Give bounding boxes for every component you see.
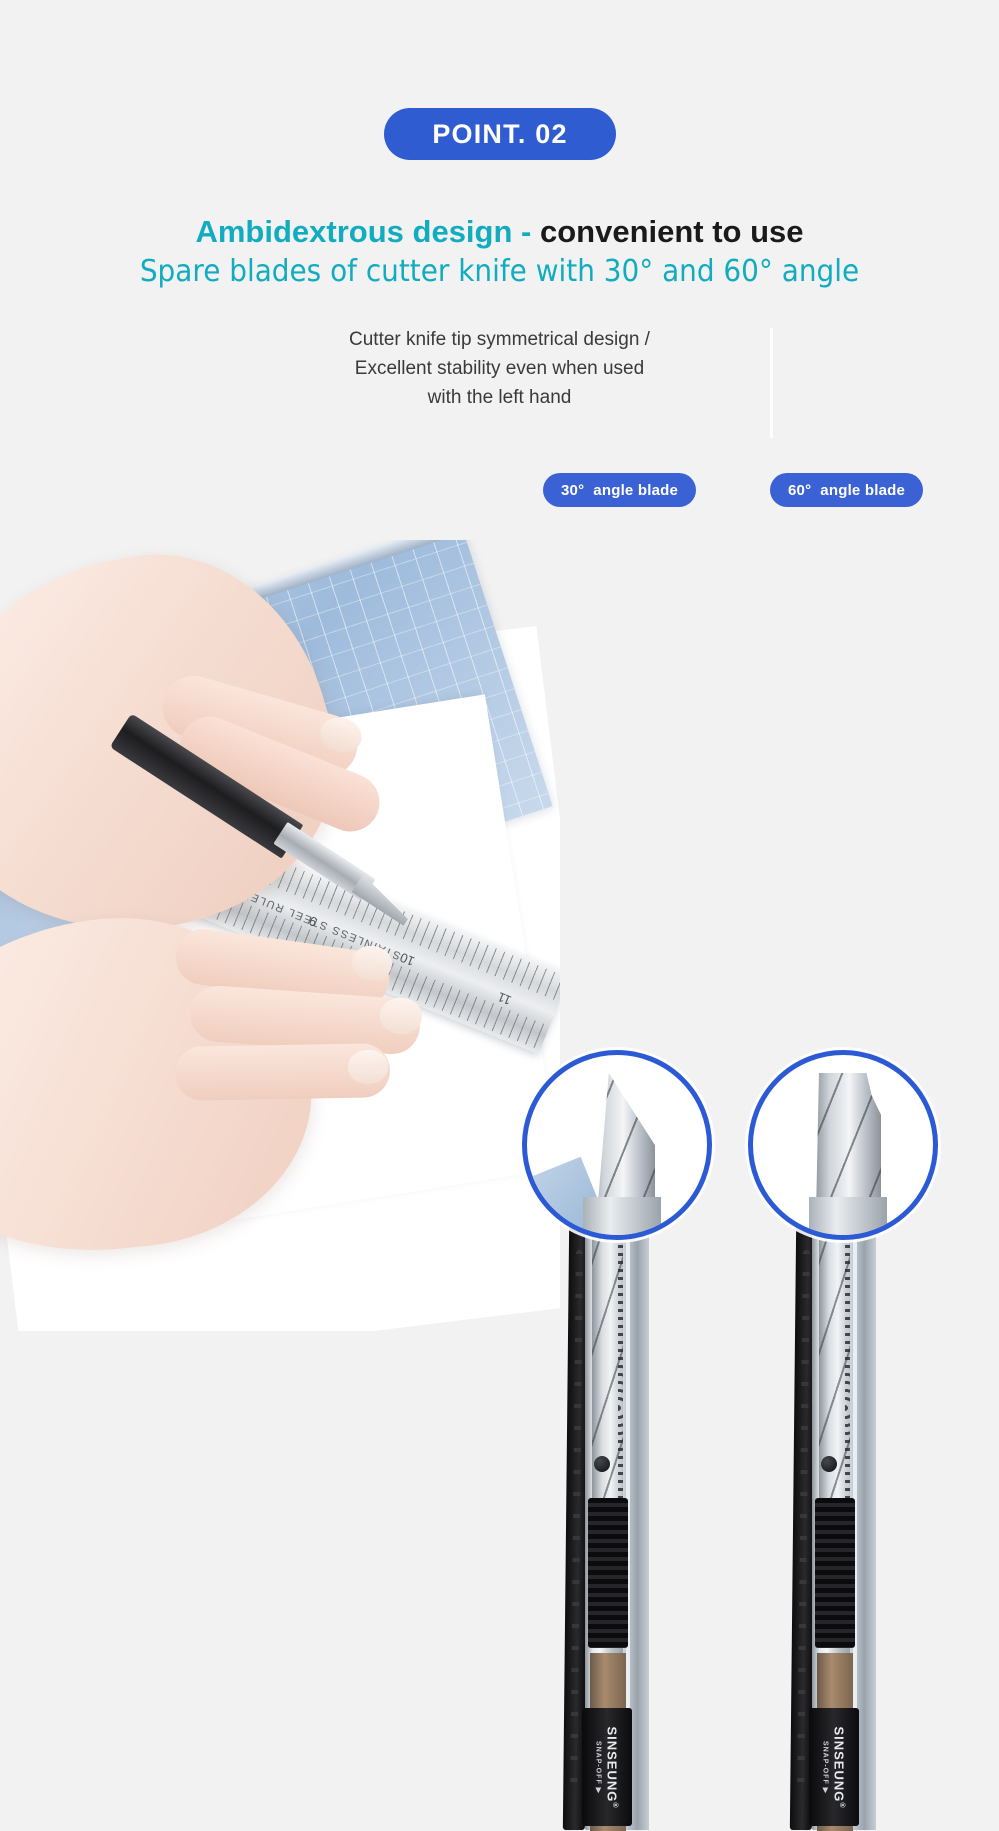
pill-60-degree: 60°	[788, 482, 811, 499]
ruler-number: 9	[307, 914, 319, 931]
registered-mark: ®	[838, 1802, 845, 1808]
brand-name: SINSEUNG®	[605, 1726, 620, 1808]
snap-off-text: SNAP-OFF ▶	[822, 1726, 830, 1808]
knife-slider	[588, 1498, 628, 1648]
headline-teal-text: Ambidextrous design -	[195, 214, 539, 249]
subcopy-line-1: Cutter knife tip symmetrical design /	[0, 325, 999, 354]
knife-brand-label: SINSEUNG® SNAP-OFF ▶	[809, 1708, 859, 1826]
headline-block: Ambidextrous design - convenient to use …	[0, 212, 999, 292]
headline-line-2: Spare blades of cutter knife with 30° an…	[35, 252, 964, 292]
pill-60-label: angle blade	[820, 482, 905, 499]
ruler-number: 10	[398, 950, 417, 969]
knife-thumb-stud	[594, 1456, 610, 1472]
pill-30-angle-blade: 30° angle blade	[543, 473, 696, 507]
brand-name: SINSEUNG®	[832, 1726, 847, 1808]
lifestyle-photo: STAINLESS STEEL RULER • FLEXIBLE • NON-S…	[0, 540, 560, 1331]
knife-thumb-stud	[821, 1456, 837, 1472]
subcopy-block: Cutter knife tip symmetrical design / Ex…	[0, 325, 999, 412]
headline-line-1: Ambidextrous design - convenient to use	[0, 212, 999, 252]
knife-brand-label: SINSEUNG® SNAP-OFF ▶	[582, 1708, 632, 1826]
point-badge-label: POINT. 02	[432, 119, 567, 150]
zoom-blade-holder	[809, 1197, 887, 1235]
vertical-divider	[770, 328, 773, 438]
subcopy-line-2: Excellent stability even when used	[0, 354, 999, 383]
zoom-callout-30	[522, 1050, 712, 1240]
knife-slider	[815, 1498, 855, 1648]
ruler-number: 11	[495, 990, 513, 1009]
registered-mark: ®	[611, 1802, 618, 1808]
zoom-blade-holder	[583, 1197, 661, 1235]
zoom-callout-60	[748, 1050, 938, 1240]
product-photo-stage: STAINLESS STEEL RULER • FLEXIBLE • NON-S…	[0, 520, 999, 1331]
snap-off-text: SNAP-OFF ▶	[595, 1726, 603, 1808]
pill-60-angle-blade: 60° angle blade	[770, 473, 923, 507]
pill-30-label: angle blade	[593, 482, 678, 499]
pill-30-degree: 30°	[561, 482, 584, 499]
point-badge: POINT. 02	[384, 108, 616, 160]
subcopy-line-3: with the left hand	[0, 383, 999, 412]
headline-dark-text: convenient to use	[540, 214, 804, 249]
